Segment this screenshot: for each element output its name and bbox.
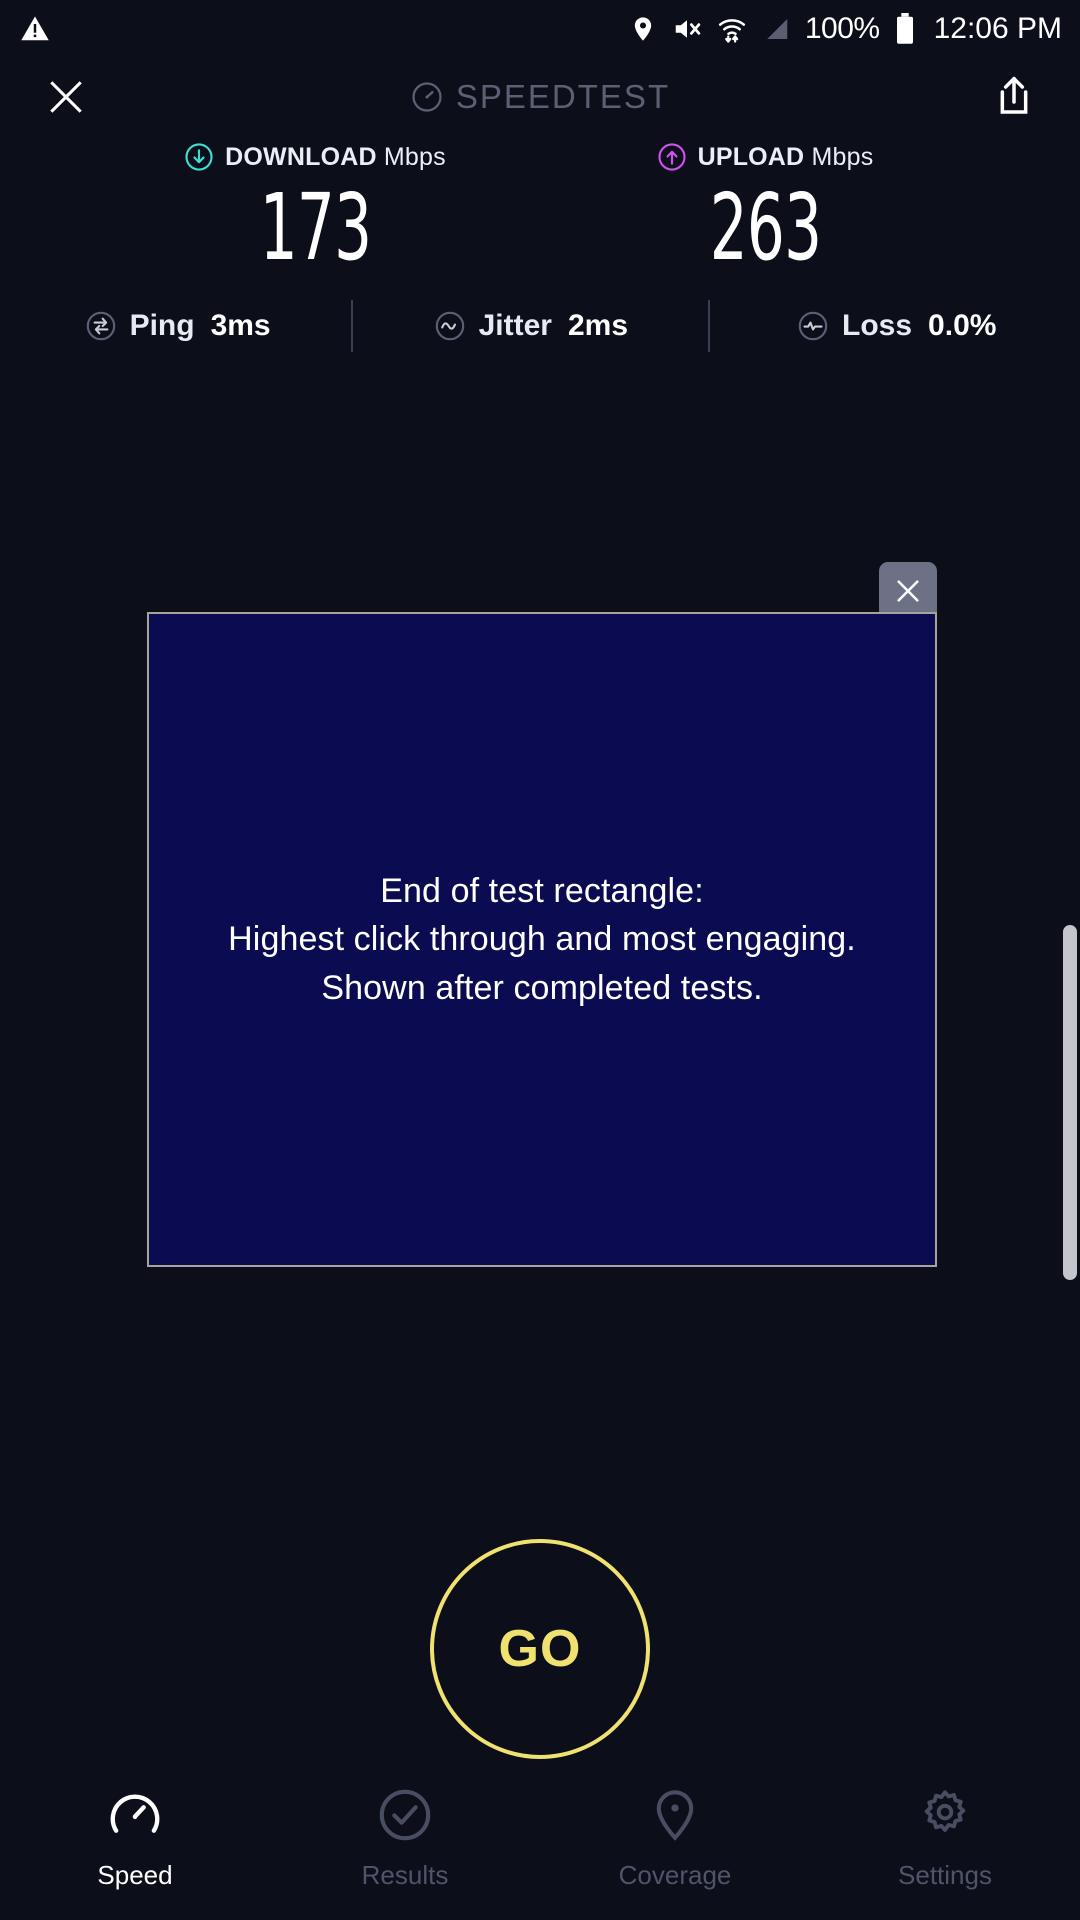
- advertisement-text: End of test rectangle: Highest click thr…: [228, 867, 856, 1012]
- download-unit-label: Mbps: [384, 143, 446, 171]
- upload-kind-label: UPLOAD: [698, 143, 805, 171]
- download-metric: DOWNLOAD Mbps 173: [125, 140, 505, 277]
- go-button[interactable]: GO: [430, 1539, 650, 1759]
- app-header: SPEEDTEST: [0, 58, 1080, 136]
- download-value: 173: [259, 180, 371, 277]
- volume-muted-icon: [671, 14, 703, 44]
- circle-arrow-up-icon: [657, 142, 687, 172]
- go-button-label: GO: [499, 1619, 582, 1679]
- upload-value: 263: [709, 180, 821, 277]
- map-pin-icon: [646, 1784, 704, 1846]
- warning-triangle-icon: [20, 14, 50, 44]
- ping-label: Ping: [130, 309, 195, 343]
- nav-label-settings: Settings: [898, 1860, 992, 1891]
- jitter-icon: [433, 309, 467, 343]
- connection-quality-row: Ping 3ms Jitter 2ms Loss 0.0%: [0, 300, 1080, 352]
- circle-arrow-down-icon: [184, 142, 214, 172]
- nav-item-results[interactable]: Results: [270, 1784, 540, 1891]
- bottom-navigation-bar: Speed Results Coverage: [0, 1770, 1080, 1920]
- speedtest-app-screen: 100% 12:06 PM SPEEDTEST: [0, 0, 1080, 1920]
- nav-label-coverage: Coverage: [619, 1860, 732, 1891]
- upload-metric-header: UPLOAD Mbps: [657, 140, 874, 174]
- upload-unit-label: Mbps: [811, 143, 873, 171]
- gear-icon: [916, 1784, 974, 1846]
- close-icon: [44, 75, 88, 119]
- brand-title: SPEEDTEST: [0, 78, 1080, 116]
- wifi-transfer-icon: [717, 14, 747, 44]
- status-bar-clock: 12:06 PM: [934, 12, 1062, 46]
- divider-1: [351, 300, 353, 352]
- upload-metric-label: UPLOAD Mbps: [698, 143, 874, 172]
- advertisement-banner[interactable]: End of test rectangle: Highest click thr…: [147, 612, 937, 1267]
- loss-label: Loss: [842, 309, 912, 343]
- speedometer-icon: [410, 80, 444, 114]
- nav-item-speed[interactable]: Speed: [0, 1784, 270, 1891]
- battery-full-icon: [894, 13, 916, 45]
- status-bar-left: [20, 14, 50, 44]
- loss-value: 0.0%: [928, 309, 996, 343]
- jitter-value: 2ms: [568, 309, 628, 343]
- scrollbar-thumb[interactable]: [1063, 925, 1077, 1280]
- check-circle-icon: [376, 1784, 434, 1846]
- speed-metrics-row: DOWNLOAD Mbps 173 UPLOAD Mbps 263: [0, 140, 1080, 277]
- location-pin-icon: [629, 14, 657, 44]
- ping-metric: Ping 3ms: [84, 309, 271, 343]
- divider-2: [708, 300, 710, 352]
- share-button[interactable]: [986, 69, 1042, 125]
- download-metric-header: DOWNLOAD Mbps: [184, 140, 446, 174]
- ad-close-icon: [892, 575, 924, 607]
- loss-metric: Loss 0.0%: [796, 309, 996, 343]
- results-panel: DOWNLOAD Mbps 173 UPLOAD Mbps 263: [0, 140, 1080, 277]
- download-kind-label: DOWNLOAD: [225, 143, 377, 171]
- jitter-metric: Jitter 2ms: [433, 309, 628, 343]
- status-bar: 100% 12:06 PM: [0, 0, 1080, 58]
- ping-value: 3ms: [211, 309, 271, 343]
- nav-label-results: Results: [362, 1860, 449, 1891]
- speedometer-icon: [106, 1784, 164, 1846]
- share-icon: [994, 75, 1034, 119]
- nav-label-speed: Speed: [97, 1860, 172, 1891]
- download-metric-label: DOWNLOAD Mbps: [225, 143, 446, 172]
- ping-icon: [84, 309, 118, 343]
- jitter-label: Jitter: [479, 309, 552, 343]
- nav-item-settings[interactable]: Settings: [810, 1784, 1080, 1891]
- upload-metric: UPLOAD Mbps 263: [575, 140, 955, 277]
- battery-percent-label: 100%: [805, 12, 880, 46]
- nav-item-coverage[interactable]: Coverage: [540, 1784, 810, 1891]
- close-test-button[interactable]: [38, 69, 94, 125]
- status-bar-right: 100% 12:06 PM: [629, 12, 1062, 46]
- brand-name-label: SPEEDTEST: [456, 78, 670, 116]
- loss-icon: [796, 309, 830, 343]
- cellular-signal-icon: [761, 14, 791, 44]
